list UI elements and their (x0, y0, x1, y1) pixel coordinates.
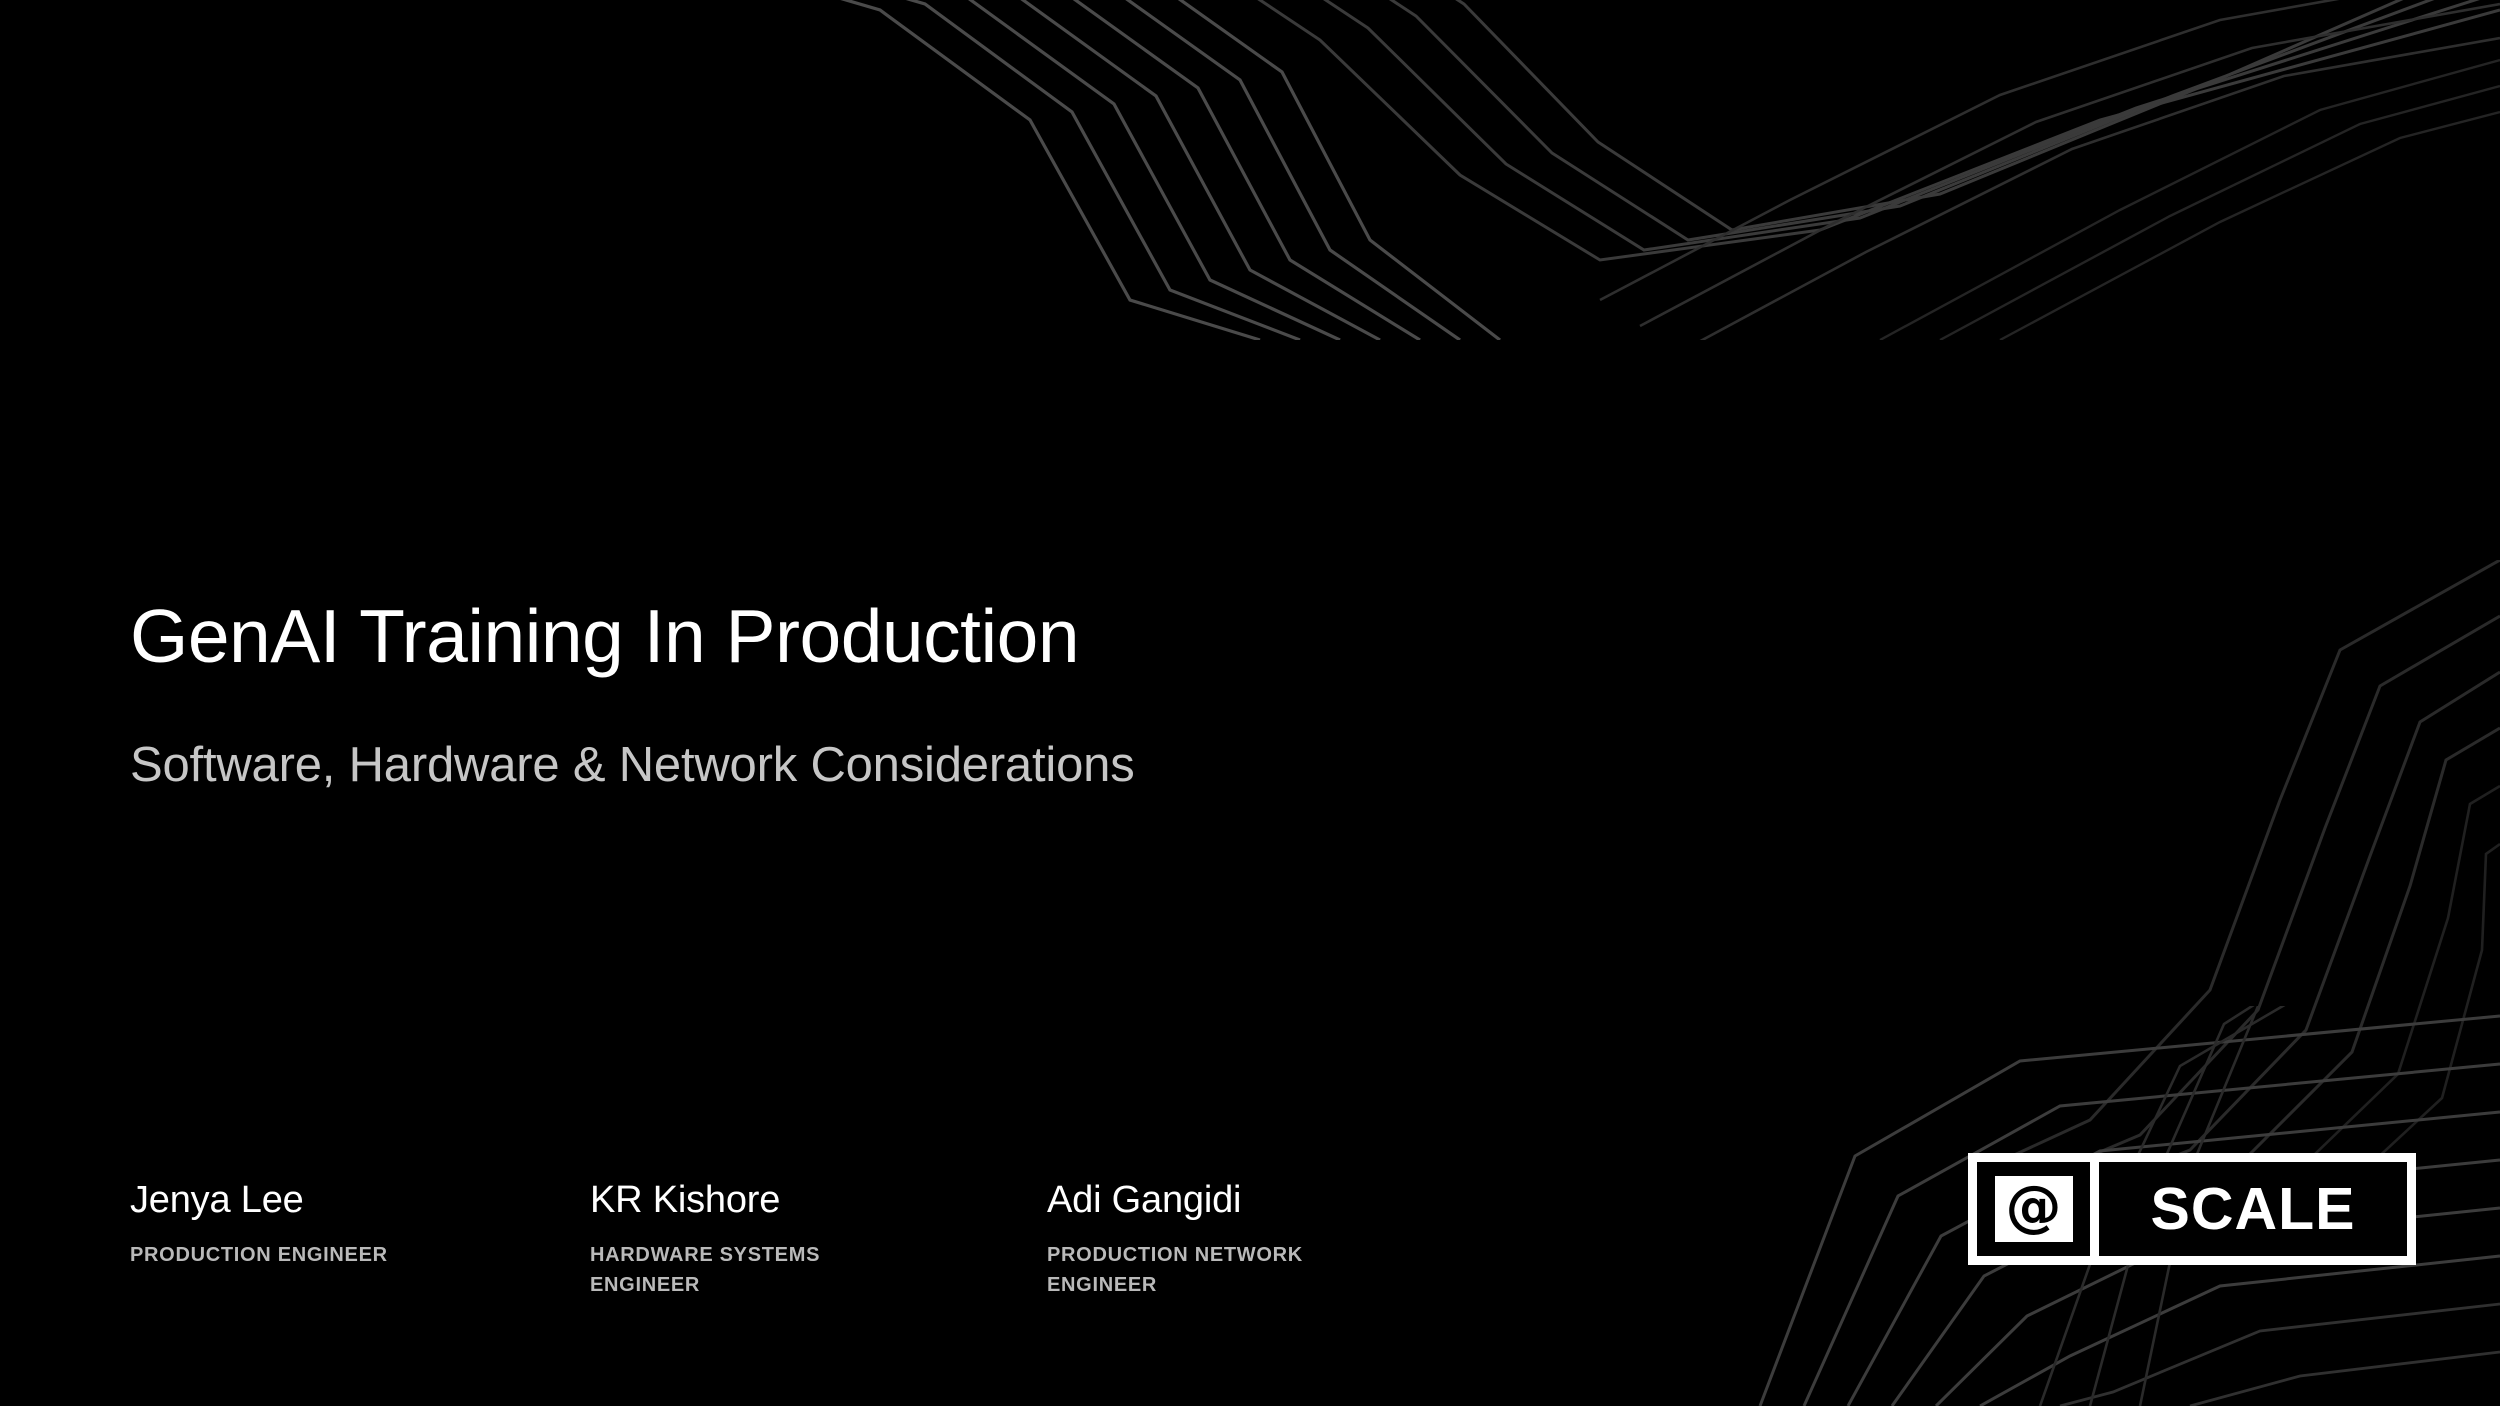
presenter-item: Adi Gangidi PRODUCTION NETWORK ENGINEER (1047, 1180, 1507, 1300)
presenter-name: KR Kishore (590, 1180, 1047, 1222)
decorative-lines-right (1980, 560, 2500, 1180)
presentation-slide: GenAI Training In Production Software, H… (0, 0, 2500, 1406)
presenter-role: HARDWARE SYSTEMS ENGINEER (590, 1240, 920, 1300)
page-title: GenAI Training In Production (130, 596, 1135, 677)
decorative-lines-right-svg (1980, 560, 2500, 1180)
logo-wordmark: SCALE (2151, 1180, 2356, 1239)
title-block: GenAI Training In Production Software, H… (130, 596, 1135, 793)
at-scale-logo: @ SCALE (1968, 1153, 2416, 1265)
presenter-name: Adi Gangidi (1047, 1180, 1507, 1222)
presenter-list: Jenya Lee PRODUCTION ENGINEER KR Kishore… (130, 1180, 1550, 1300)
logo-at-cell: @ (1977, 1162, 2099, 1256)
presenter-item: Jenya Lee PRODUCTION ENGINEER (130, 1180, 590, 1300)
logo-at-box: @ (1995, 1176, 2073, 1242)
presenter-name: Jenya Lee (130, 1180, 590, 1222)
at-symbol-icon: @ (2006, 1179, 2062, 1235)
decorative-lines-top-svg (700, 0, 2500, 340)
logo-word-cell: SCALE (2099, 1162, 2407, 1256)
presenter-item: KR Kishore HARDWARE SYSTEMS ENGINEER (590, 1180, 1047, 1300)
decorative-lines-top (700, 0, 2500, 340)
page-subtitle: Software, Hardware & Network Considerati… (130, 737, 1135, 793)
presenter-role: PRODUCTION ENGINEER (130, 1240, 460, 1270)
presenter-role: PRODUCTION NETWORK ENGINEER (1047, 1240, 1377, 1300)
